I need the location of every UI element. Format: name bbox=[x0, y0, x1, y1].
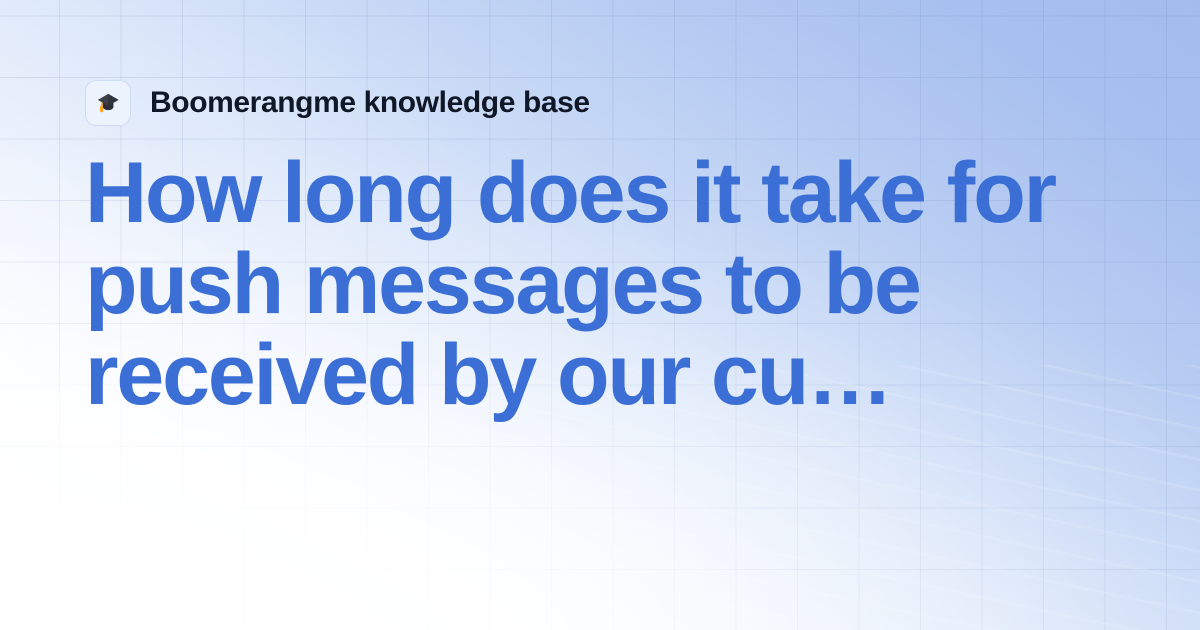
card-content: Boomerangme knowledge base How long does… bbox=[0, 0, 1200, 630]
page-title: How long does it take for push messages … bbox=[85, 127, 1095, 421]
graduation-cap-icon bbox=[93, 88, 123, 118]
og-card: Boomerangme knowledge base How long does… bbox=[0, 0, 1200, 630]
brand-title: Boomerangme knowledge base bbox=[150, 88, 590, 118]
brand-logo-badge bbox=[85, 80, 131, 126]
brand-row: Boomerangme knowledge base bbox=[85, 79, 1130, 127]
